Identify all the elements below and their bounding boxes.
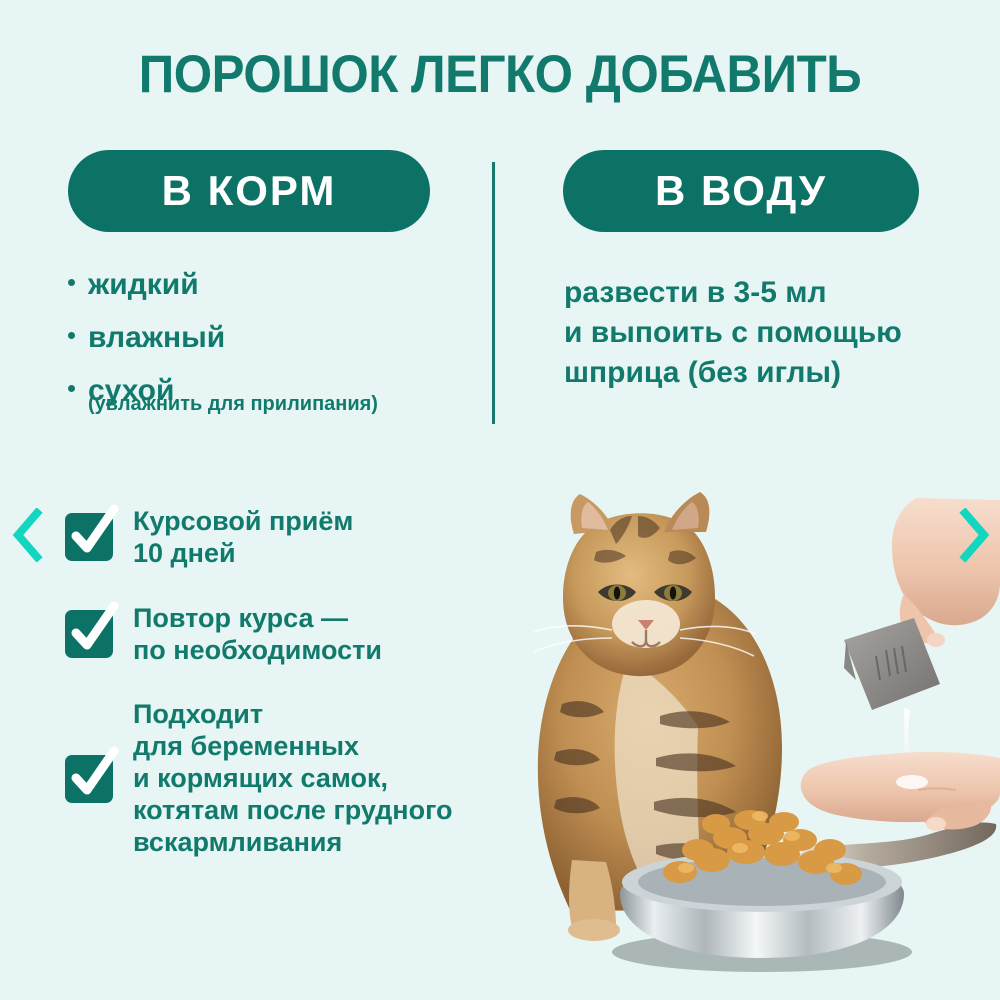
column-feed: В КОРМ жидкий влажный сухой (увлажнить д… xyxy=(68,150,468,232)
list-item: влажный xyxy=(68,323,225,353)
bullet-dot-icon xyxy=(68,279,75,286)
checkmark-icon xyxy=(65,610,113,658)
check-label: Подходит для беременных и кормящих самок… xyxy=(133,698,453,858)
water-line: шприца (без иглы) xyxy=(564,353,902,393)
check-line: Повтор курса — xyxy=(133,603,348,633)
benefits-checklist: Курсовой приём 10 дней Повтор курса — по… xyxy=(65,505,535,891)
feed-subnote: (увлажнить для прилипания) xyxy=(88,393,378,416)
bullet-dot-icon xyxy=(68,385,75,392)
checkmark-icon xyxy=(65,513,113,561)
check-label: Курсовой приём 10 дней xyxy=(133,505,353,570)
check-line: 10 дней xyxy=(133,538,236,568)
product-photo xyxy=(500,490,1000,1000)
check-line: вскармливания xyxy=(133,827,342,857)
instruction-columns: В КОРМ жидкий влажный сухой (увлажнить д… xyxy=(0,150,1000,440)
bullet-dot-icon xyxy=(68,332,75,339)
check-line: и кормящих самок, xyxy=(133,763,388,793)
water-line: развести в 3-5 мл xyxy=(564,273,902,313)
check-line: для беременных xyxy=(133,731,359,761)
bullet-label: влажный xyxy=(88,323,225,353)
list-item: жидкий xyxy=(68,270,225,300)
water-line: и выпоить с помощью xyxy=(564,313,902,353)
page-title: ПОРОШОК ЛЕГКО ДОБАВИТЬ xyxy=(35,48,965,101)
checkmark-icon xyxy=(65,755,113,803)
list-item: Курсовой приём 10 дней xyxy=(65,505,535,570)
bullet-label: жидкий xyxy=(88,270,199,300)
check-line: Курсовой приём xyxy=(133,506,353,536)
check-label: Повтор курса — по необходимости xyxy=(133,602,382,667)
list-item: Подходит для беременных и кормящих самок… xyxy=(65,698,535,858)
check-line: Подходит xyxy=(133,699,263,729)
water-instructions: развести в 3-5 мл и выпоить с помощью шп… xyxy=(564,273,902,393)
carousel-prev-button[interactable] xyxy=(11,508,45,562)
check-line: котятам после грудного xyxy=(133,795,453,825)
check-line: по необходимости xyxy=(133,635,382,665)
pill-feed[interactable]: В КОРМ xyxy=(68,150,430,232)
list-item: Повтор курса — по необходимости xyxy=(65,602,535,667)
carousel-next-button[interactable] xyxy=(957,508,991,562)
column-water: В ВОДУ развести в 3-5 мл и выпоить с пом… xyxy=(556,150,956,232)
promo-slide: ПОРОШОК ЛЕГКО ДОБАВИТЬ В КОРМ жидкий вла… xyxy=(0,0,1000,1000)
pill-water[interactable]: В ВОДУ xyxy=(563,150,919,232)
